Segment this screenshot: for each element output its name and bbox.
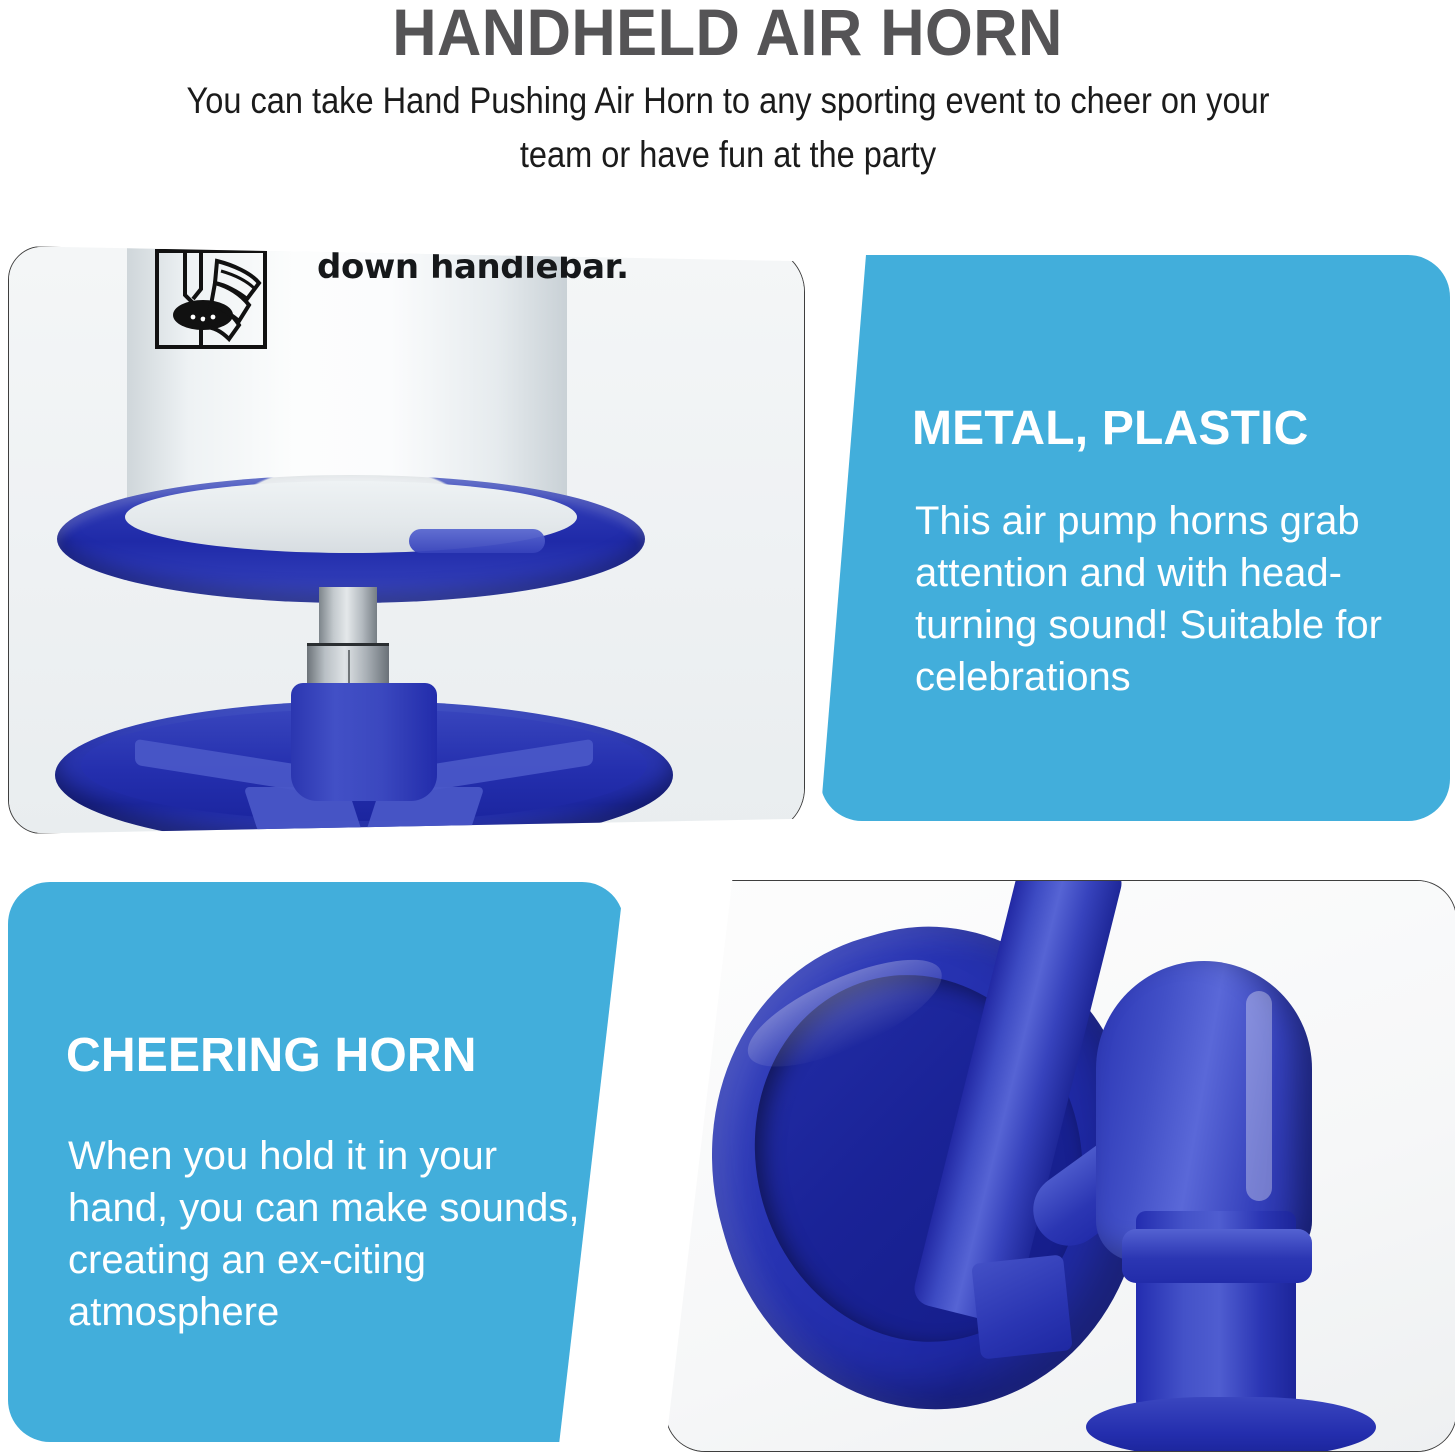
elbow-highlight bbox=[1246, 991, 1272, 1201]
metal-bolt-shaft bbox=[319, 587, 377, 649]
infographic-root: HANDHELD AIR HORN You can take Hand Push… bbox=[0, 0, 1455, 1450]
feature-card-heading: CHEERING HORN bbox=[66, 1030, 477, 1082]
blue-foot-base bbox=[55, 683, 673, 834]
feature-card-cheering-horn: CHEERING HORN When you hold it in your h… bbox=[8, 882, 624, 1442]
base-hub bbox=[291, 683, 437, 801]
feature-card-body: When you hold it in your hand, you can m… bbox=[68, 1130, 588, 1338]
feature-card-body: This air pump horns grab attention and w… bbox=[915, 495, 1435, 703]
header: HANDHELD AIR HORN You can take Hand Push… bbox=[0, 0, 1455, 182]
instruction-label-text: down handlebar. bbox=[317, 247, 629, 287]
photo-panel-horn-nozzle bbox=[665, 880, 1455, 1452]
feature-card-metal-plastic: METAL, PLASTIC This air pump horns grab … bbox=[820, 255, 1450, 821]
pump-cylinder: down handlebar. bbox=[127, 246, 567, 509]
photo-panel-pump-base: down handlebar. bbox=[8, 246, 805, 834]
horn-tab bbox=[971, 1254, 1073, 1359]
blue-flange-ring bbox=[57, 475, 645, 603]
page-subtitle: You can take Hand Pushing Air Horn to an… bbox=[164, 74, 1290, 182]
horn-collar bbox=[1122, 1229, 1312, 1283]
photo-background: down handlebar. bbox=[9, 247, 804, 833]
flange-seam bbox=[409, 529, 545, 553]
photo-background bbox=[666, 881, 1455, 1451]
instruction-label: down handlebar. bbox=[127, 246, 567, 361]
feature-card-heading: METAL, PLASTIC bbox=[912, 403, 1309, 455]
horn-foot-pad bbox=[1086, 1397, 1376, 1452]
hand-pressing-pump-icon bbox=[155, 249, 267, 349]
page-title: HANDHELD AIR HORN bbox=[51, 0, 1404, 62]
